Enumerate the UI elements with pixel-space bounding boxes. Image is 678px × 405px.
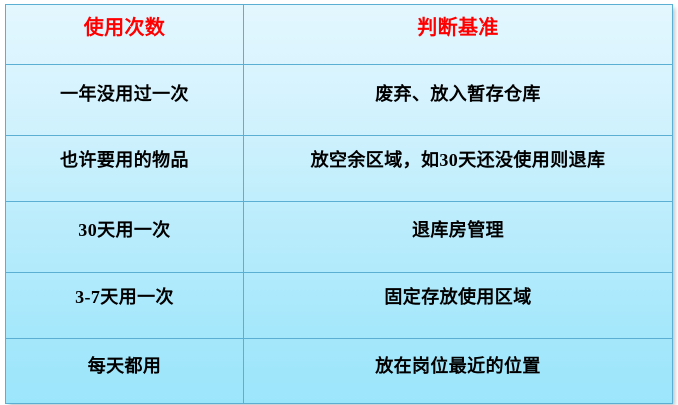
cell-usage: 30天用一次 — [6, 202, 244, 273]
cell-rule: 放空余区域，如30天还没使用则退库 — [244, 136, 673, 202]
screen-root: 使用次数 判断基准 一年没用过一次 废弃、放入暂存仓库 也许要用的物品 — [0, 0, 678, 405]
cell-text-rule: 放在岗位最近的位置 — [244, 339, 672, 376]
cell-rule: 废弃、放入暂存仓库 — [244, 65, 673, 136]
table-row: 一年没用过一次 废弃、放入暂存仓库 — [6, 65, 673, 136]
cell-rule: 固定存放使用区域 — [244, 273, 673, 339]
table-row: 30天用一次 退库房管理 — [6, 202, 673, 273]
table-header-row: 使用次数 判断基准 — [6, 5, 673, 65]
cell-text-rule: 放空余区域，如30天还没使用则退库 — [244, 136, 672, 170]
cell-usage: 一年没用过一次 — [6, 65, 244, 136]
header-label-rule: 判断基准 — [244, 5, 672, 39]
cell-text-rule: 退库房管理 — [244, 202, 672, 240]
cell-usage: 每天都用 — [6, 339, 244, 404]
cell-text-usage: 也许要用的物品 — [6, 136, 243, 170]
header-cell-rule: 判断基准 — [244, 5, 673, 65]
table-row: 也许要用的物品 放空余区域，如30天还没使用则退库 — [6, 136, 673, 202]
cell-text-rule: 固定存放使用区域 — [244, 273, 672, 307]
cell-usage: 也许要用的物品 — [6, 136, 244, 202]
header-cell-usage: 使用次数 — [6, 5, 244, 65]
cell-text-usage: 30天用一次 — [6, 202, 243, 240]
usage-criteria-table: 使用次数 判断基准 一年没用过一次 废弃、放入暂存仓库 也许要用的物品 — [5, 4, 673, 404]
cell-rule: 放在岗位最近的位置 — [244, 339, 673, 404]
cell-text-usage: 3-7天用一次 — [6, 273, 243, 307]
cell-rule: 退库房管理 — [244, 202, 673, 273]
table-row: 每天都用 放在岗位最近的位置 — [6, 339, 673, 404]
cell-text-usage: 每天都用 — [6, 339, 243, 376]
table-row: 3-7天用一次 固定存放使用区域 — [6, 273, 673, 339]
header-label-usage: 使用次数 — [6, 5, 243, 39]
cell-text-rule: 废弃、放入暂存仓库 — [244, 65, 672, 104]
cell-usage: 3-7天用一次 — [6, 273, 244, 339]
cell-text-usage: 一年没用过一次 — [6, 65, 243, 104]
